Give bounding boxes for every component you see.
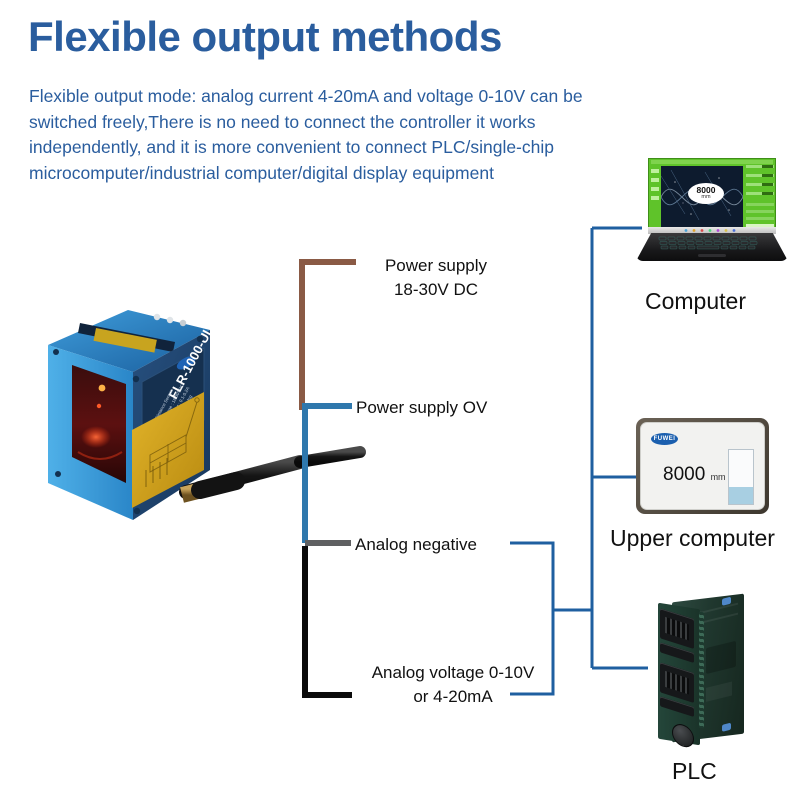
wire-label-power-supply-0v: Power supply OV [356, 396, 487, 420]
upper-computer-face: FUWEI 8000 mm [640, 422, 765, 510]
fuwei-logo: FUWEI [651, 433, 678, 445]
laptop-screen-topbar [651, 160, 773, 164]
plc-front-face [658, 603, 700, 746]
plc-vent [699, 612, 704, 729]
caption-plc: PLC [672, 758, 717, 785]
upper-computer-reading: 8000 mm [663, 464, 726, 486]
connection-lines [510, 228, 648, 694]
wire-analog-voltage [305, 546, 352, 695]
plc-rotary-dial [672, 721, 694, 750]
slide-canvas: Flexible output methods Flexible output … [0, 0, 800, 800]
laptop-reading-bubble: 8000 mm [688, 183, 724, 204]
caption-upper-computer: Upper computer [610, 525, 775, 552]
laptop-screen: 8000 mm [648, 158, 776, 234]
wire-power-supply [302, 262, 356, 410]
wire-label-power-supply: Power supply 18-30V DC [361, 254, 511, 302]
laptop-trackpad [698, 254, 726, 257]
upper-computer-bargraph [728, 449, 754, 505]
computer-device: 8000 mm [636, 158, 788, 270]
upper-computer-device: FUWEI 8000 mm [636, 418, 769, 514]
wire-bundle [302, 262, 356, 695]
wire-label-analog-negative: Analog negative [355, 533, 477, 557]
plc-device [650, 592, 760, 747]
bargraph-fill [729, 487, 753, 504]
wire-label-analog-voltage: Analog voltage 0-10V or 4-20mA [353, 661, 553, 709]
caption-computer: Computer [645, 288, 746, 315]
laptop-hinge-dots [682, 228, 742, 233]
laptop-right-panel [746, 165, 774, 229]
wire-power-supply-0v [305, 406, 352, 543]
laptop-viewport: 8000 mm [661, 166, 743, 228]
laptop-keyboard [658, 236, 766, 252]
laser-distance-sensor: FLR-1000-UI Laser Distance Sensor Voltag… [48, 310, 360, 520]
laptop-left-panel [651, 169, 659, 217]
